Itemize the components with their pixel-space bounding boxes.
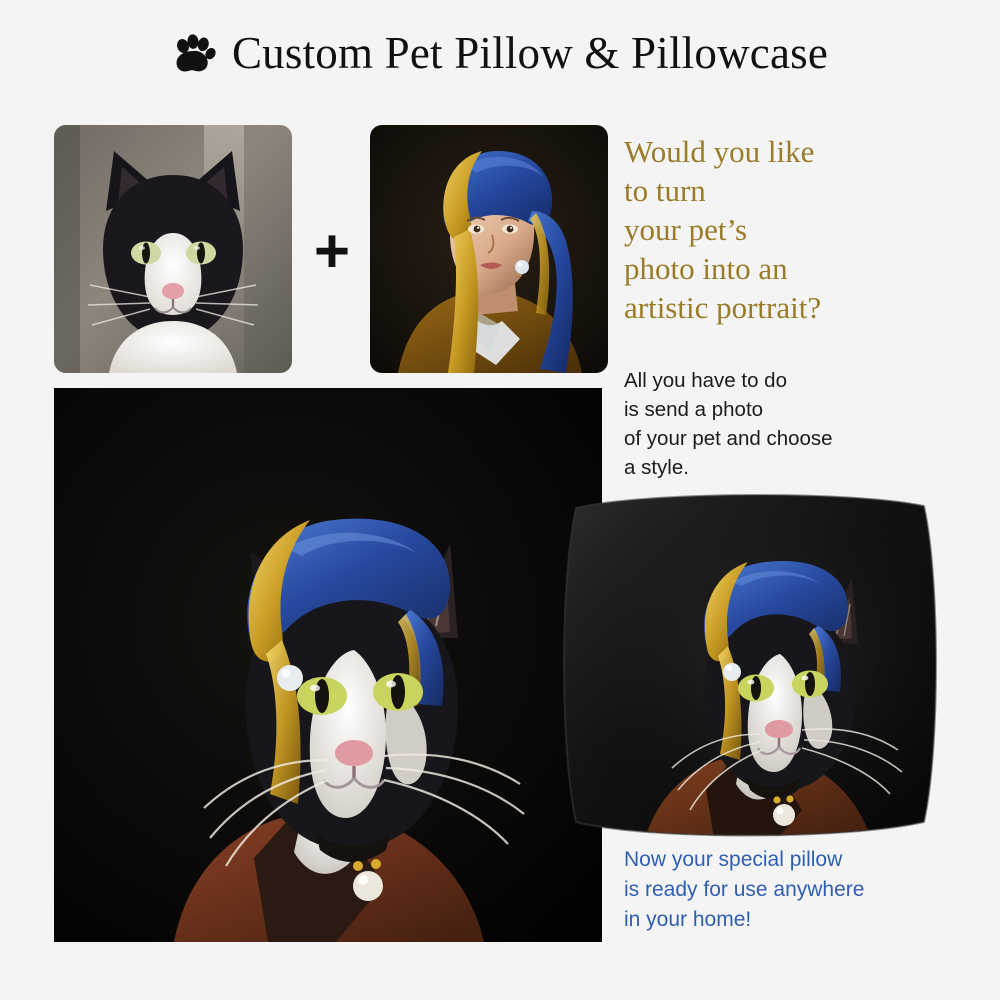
page-header: Custom Pet Pillow & Pillowcase <box>0 0 1000 105</box>
portrait-result-image <box>54 388 602 942</box>
instructions-text: All you have to do is send a photo of yo… <box>624 366 996 482</box>
paw-icon <box>172 33 216 77</box>
footnote-line-2: is ready for use anywhere <box>624 875 996 905</box>
instructions-line-2: is send a photo <box>624 395 996 424</box>
pillow-mockup <box>556 478 946 850</box>
headline-line-3: your pet’s <box>624 210 990 249</box>
plus-symbol: + <box>300 222 364 286</box>
reference-painting-thumbnail <box>370 125 608 373</box>
footnote-text: Now your special pillow is ready for use… <box>624 845 996 935</box>
headline-line-4: photo into an <box>624 249 990 288</box>
footnote-line-3: in your home! <box>624 905 996 935</box>
headline-text: Would you like to turn your pet’s photo … <box>624 132 990 327</box>
pet-photo-thumbnail <box>54 125 292 373</box>
headline-line-5: artistic portrait? <box>624 288 990 327</box>
page-title: Custom Pet Pillow & Pillowcase <box>232 27 828 79</box>
headline-line-1: Would you like <box>624 132 990 171</box>
instructions-line-1: All you have to do <box>624 366 996 395</box>
headline-line-2: to turn <box>624 171 990 210</box>
instructions-line-3: of your pet and choose <box>624 424 996 453</box>
